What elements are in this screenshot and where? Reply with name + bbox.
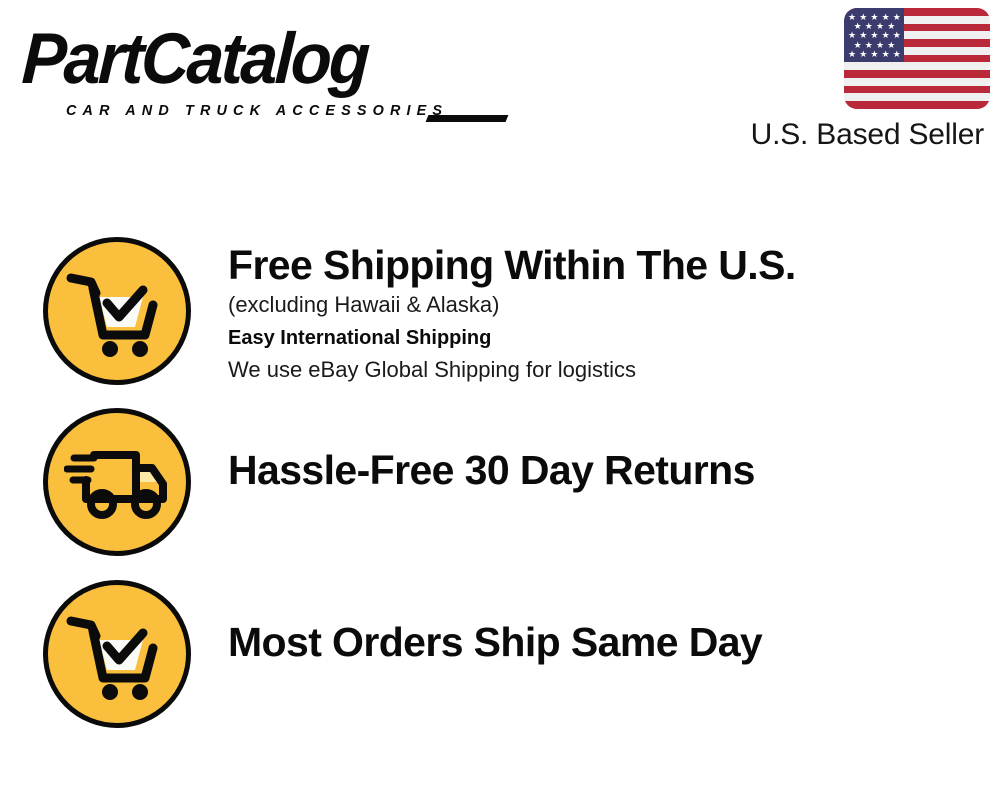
flag-star: ★ xyxy=(870,50,878,59)
feature-text-block: Free Shipping Within The U.S. (excluding… xyxy=(191,237,1000,385)
flag-star: ★ xyxy=(859,31,867,40)
page-header: PartCatalog CAR AND TRUCK ACCESSORIES ★★… xyxy=(0,0,1000,170)
brand-underline-swoosh xyxy=(426,115,509,122)
feature-title: Free Shipping Within The U.S. xyxy=(228,241,1000,289)
us-flag-icon: ★★★★★★★★★★★★★★★★★★★★★★★ xyxy=(844,8,990,109)
us-based-seller-badge: ★★★★★★★★★★★★★★★★★★★★★★★ U.S. Based Selle… xyxy=(720,8,990,152)
flag-canton: ★★★★★★★★★★★★★★★★★★★★★★★ xyxy=(844,8,904,62)
flag-star: ★ xyxy=(893,50,901,59)
flag-stripe xyxy=(844,62,990,70)
flag-star: ★ xyxy=(859,50,867,59)
flag-stripe xyxy=(844,86,990,94)
feature-row: Most Orders Ship Same Day xyxy=(0,580,1000,728)
brand-tagline: CAR AND TRUCK ACCESSORIES xyxy=(66,102,448,119)
flag-star: ★ xyxy=(870,31,878,40)
flag-star: ★ xyxy=(848,31,856,40)
shopping-cart-check-icon xyxy=(43,237,191,385)
flag-stripe xyxy=(844,70,990,78)
delivery-truck-icon xyxy=(43,408,191,556)
flag-star: ★ xyxy=(893,31,901,40)
feature-text-block: Hassle-Free 30 Day Returns xyxy=(191,408,1000,494)
feature-row: Free Shipping Within The U.S. (excluding… xyxy=(0,237,1000,385)
feature-text-block: Most Orders Ship Same Day xyxy=(191,580,1000,666)
flag-stripe xyxy=(844,93,990,101)
flag-stripe xyxy=(844,78,990,86)
brand-wordmark: PartCatalog xyxy=(20,22,461,96)
shopping-cart-check-icon xyxy=(43,580,191,728)
flag-stripe xyxy=(844,101,990,109)
feature-note: We use eBay Global Shipping for logistic… xyxy=(228,355,1000,385)
feature-subtitle: (excluding Hawaii & Alaska) xyxy=(228,289,1000,321)
feature-title: Most Orders Ship Same Day xyxy=(228,618,1000,666)
feature-row: Hassle-Free 30 Day Returns xyxy=(0,408,1000,556)
flag-star: ★ xyxy=(882,50,890,59)
partcatalog-logo[interactable]: PartCatalog CAR AND TRUCK ACCESSORIES xyxy=(24,22,494,122)
feature-title: Hassle-Free 30 Day Returns xyxy=(228,446,1000,494)
feature-strong-line: Easy International Shipping xyxy=(228,321,1000,355)
flag-star: ★ xyxy=(882,31,890,40)
flag-star: ★ xyxy=(848,50,856,59)
us-based-seller-label: U.S. Based Seller xyxy=(720,118,990,152)
